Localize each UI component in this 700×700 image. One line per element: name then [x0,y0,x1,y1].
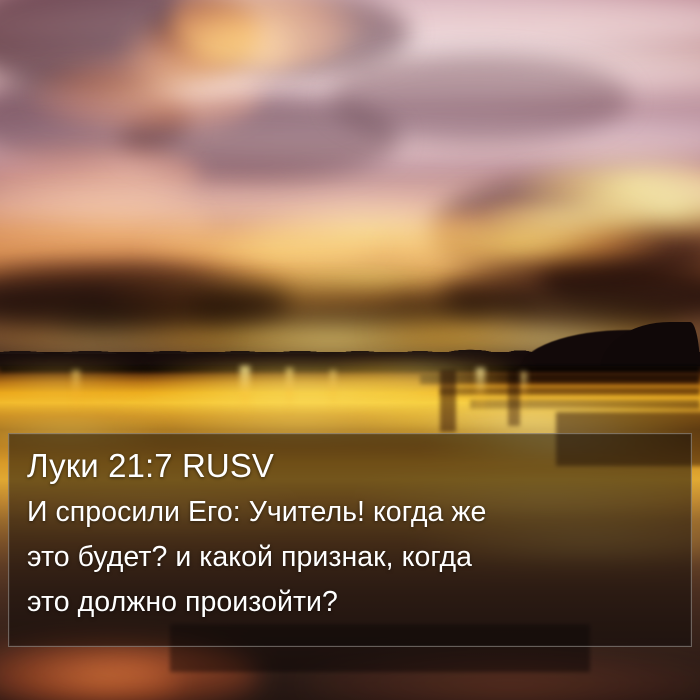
water-shimmer-column [240,366,250,420]
verse-text-line: это должно произойти? [27,580,673,625]
verse-text: И спросили Его: Учитель! когда же это бу… [27,490,673,625]
cloud-fire-plume [30,52,260,138]
cloud-shadow-mass [330,54,630,144]
verse-text-line: это будет? и какой признак, когда [27,535,673,580]
water-shimmer-column [520,372,527,414]
water-gold-reflection [0,372,140,390]
water-shimmer-column [330,370,336,410]
tree-reflection [508,370,520,426]
cloud-yellow-highlight [480,196,650,240]
verse-image-canvas: Луки 21:7 RUSV И спросили Его: Учитель! … [0,0,700,700]
water-shimmer-column [286,368,293,414]
sunset-sky [0,0,700,360]
verse-reference: Луки 21:7 RUSV [27,446,673,486]
water-shimmer-column [72,370,80,414]
verse-text-overlay: Луки 21:7 RUSV И спросили Его: Учитель! … [8,433,692,647]
verse-text-line: И спросили Его: Учитель! когда же [27,490,673,535]
tree-reflection [440,370,456,432]
water-shimmer-column [476,368,485,418]
